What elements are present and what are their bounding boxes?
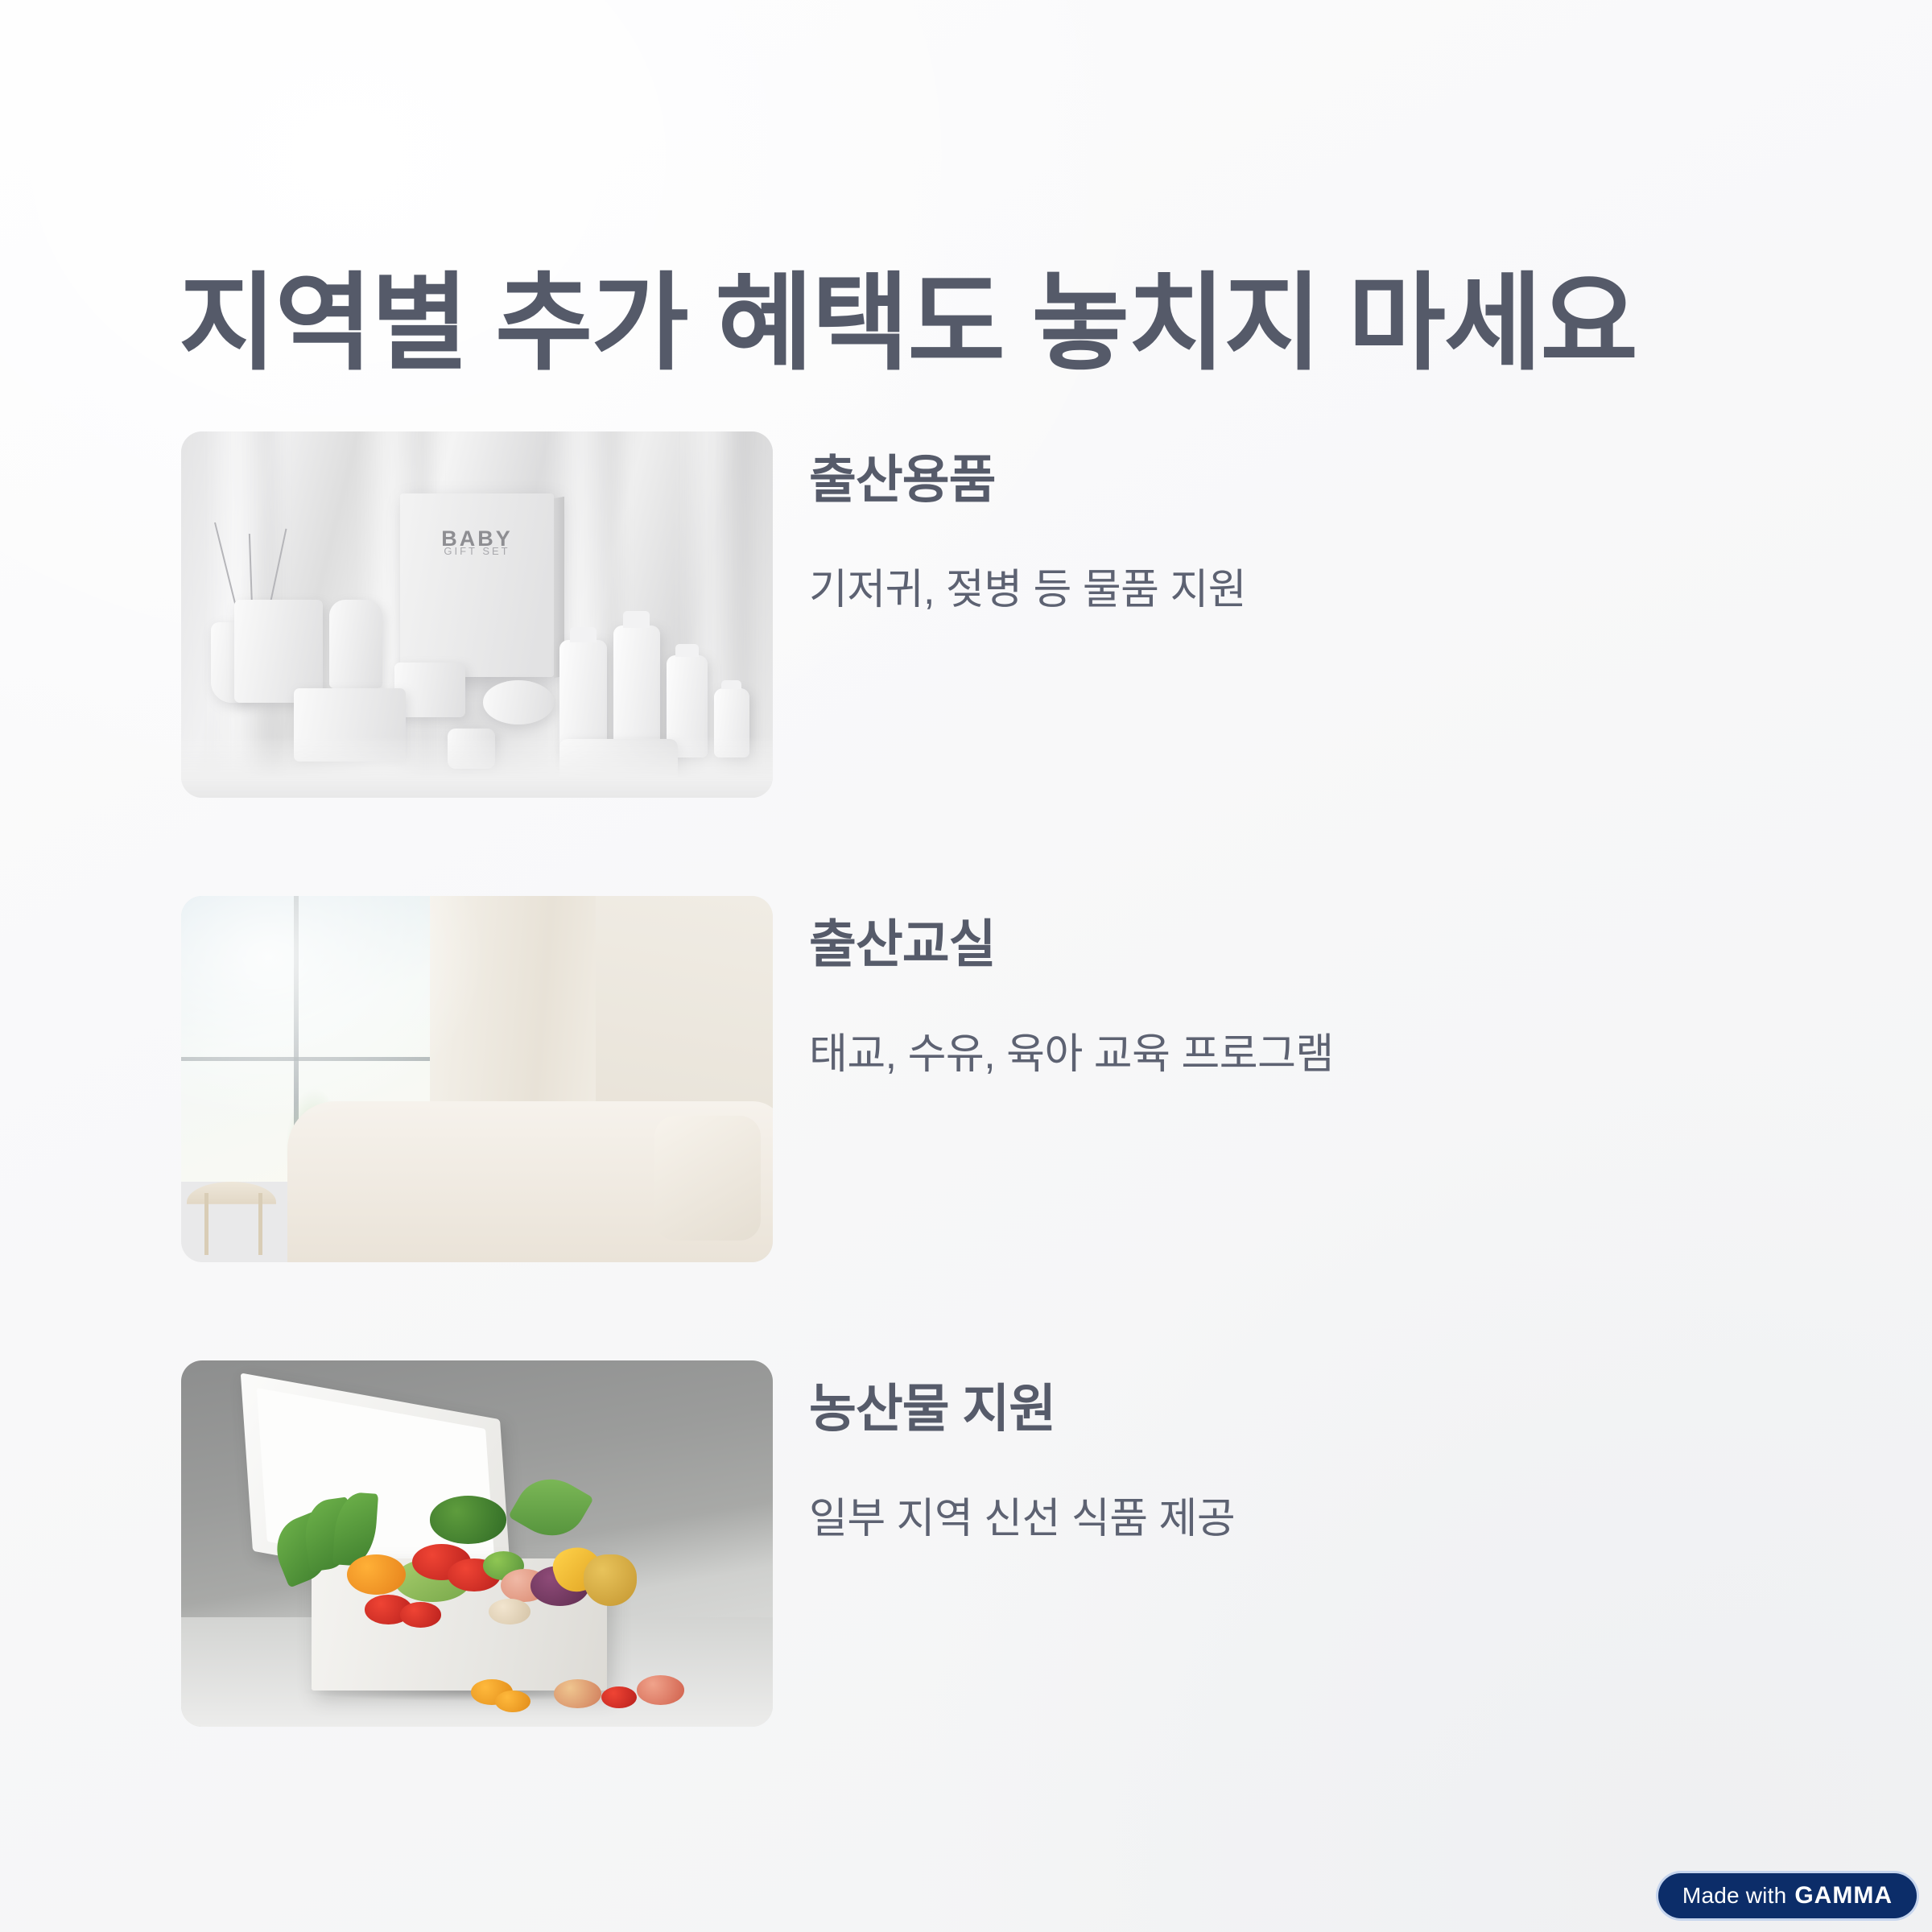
feature-text-block: 출산교실 태교, 수유, 육아 교육 프로그램: [809, 896, 1735, 1262]
feature-text-block: 출산용품 기저귀, 젖병 등 물품 지원: [809, 431, 1735, 798]
feature-image-birth-class: [181, 896, 773, 1262]
feature-heading: 출산용품: [809, 448, 996, 512]
feature-heading: 농산물 지원: [809, 1377, 1055, 1441]
feature-description: 기저귀, 젖병 등 물품 지원: [809, 562, 1246, 618]
feature-row: 농산물 지원 일부 지역 신선 식품 제공: [181, 1360, 1751, 1728]
feature-description: 일부 지역 신선 식품 제공: [809, 1491, 1235, 1547]
slide-canvas: 지역별 추가 혜택도 놓치지 마세요 BABY GIFT SET: [0, 0, 1932, 1932]
baby-gift-set-illustration: BABY GIFT SET: [181, 431, 773, 798]
feature-text-block: 농산물 지원 일부 지역 신선 식품 제공: [809, 1360, 1735, 1727]
badge-brand-label: GAMMA: [1794, 1882, 1893, 1909]
feature-image-baby-goods: BABY GIFT SET: [181, 431, 773, 798]
made-with-gamma-badge[interactable]: Made with GAMMA: [1658, 1873, 1917, 1918]
feature-row: 출산교실 태교, 수유, 육아 교육 프로그램: [181, 896, 1751, 1263]
feature-description: 태교, 수유, 육아 교육 프로그램: [809, 1026, 1334, 1083]
feature-list: BABY GIFT SET: [0, 0, 1932, 1932]
feature-row: BABY GIFT SET: [181, 431, 1751, 799]
feature-heading: 출산교실: [809, 912, 996, 976]
badge-prefix-label: Made with: [1682, 1883, 1786, 1909]
pregnant-women-illustration: [181, 896, 773, 1262]
produce-box-illustration: [181, 1360, 773, 1727]
gift-box-subtitle: GIFT SET: [400, 545, 554, 557]
gift-box-shape: BABY GIFT SET: [400, 493, 554, 677]
feature-image-produce: [181, 1360, 773, 1727]
